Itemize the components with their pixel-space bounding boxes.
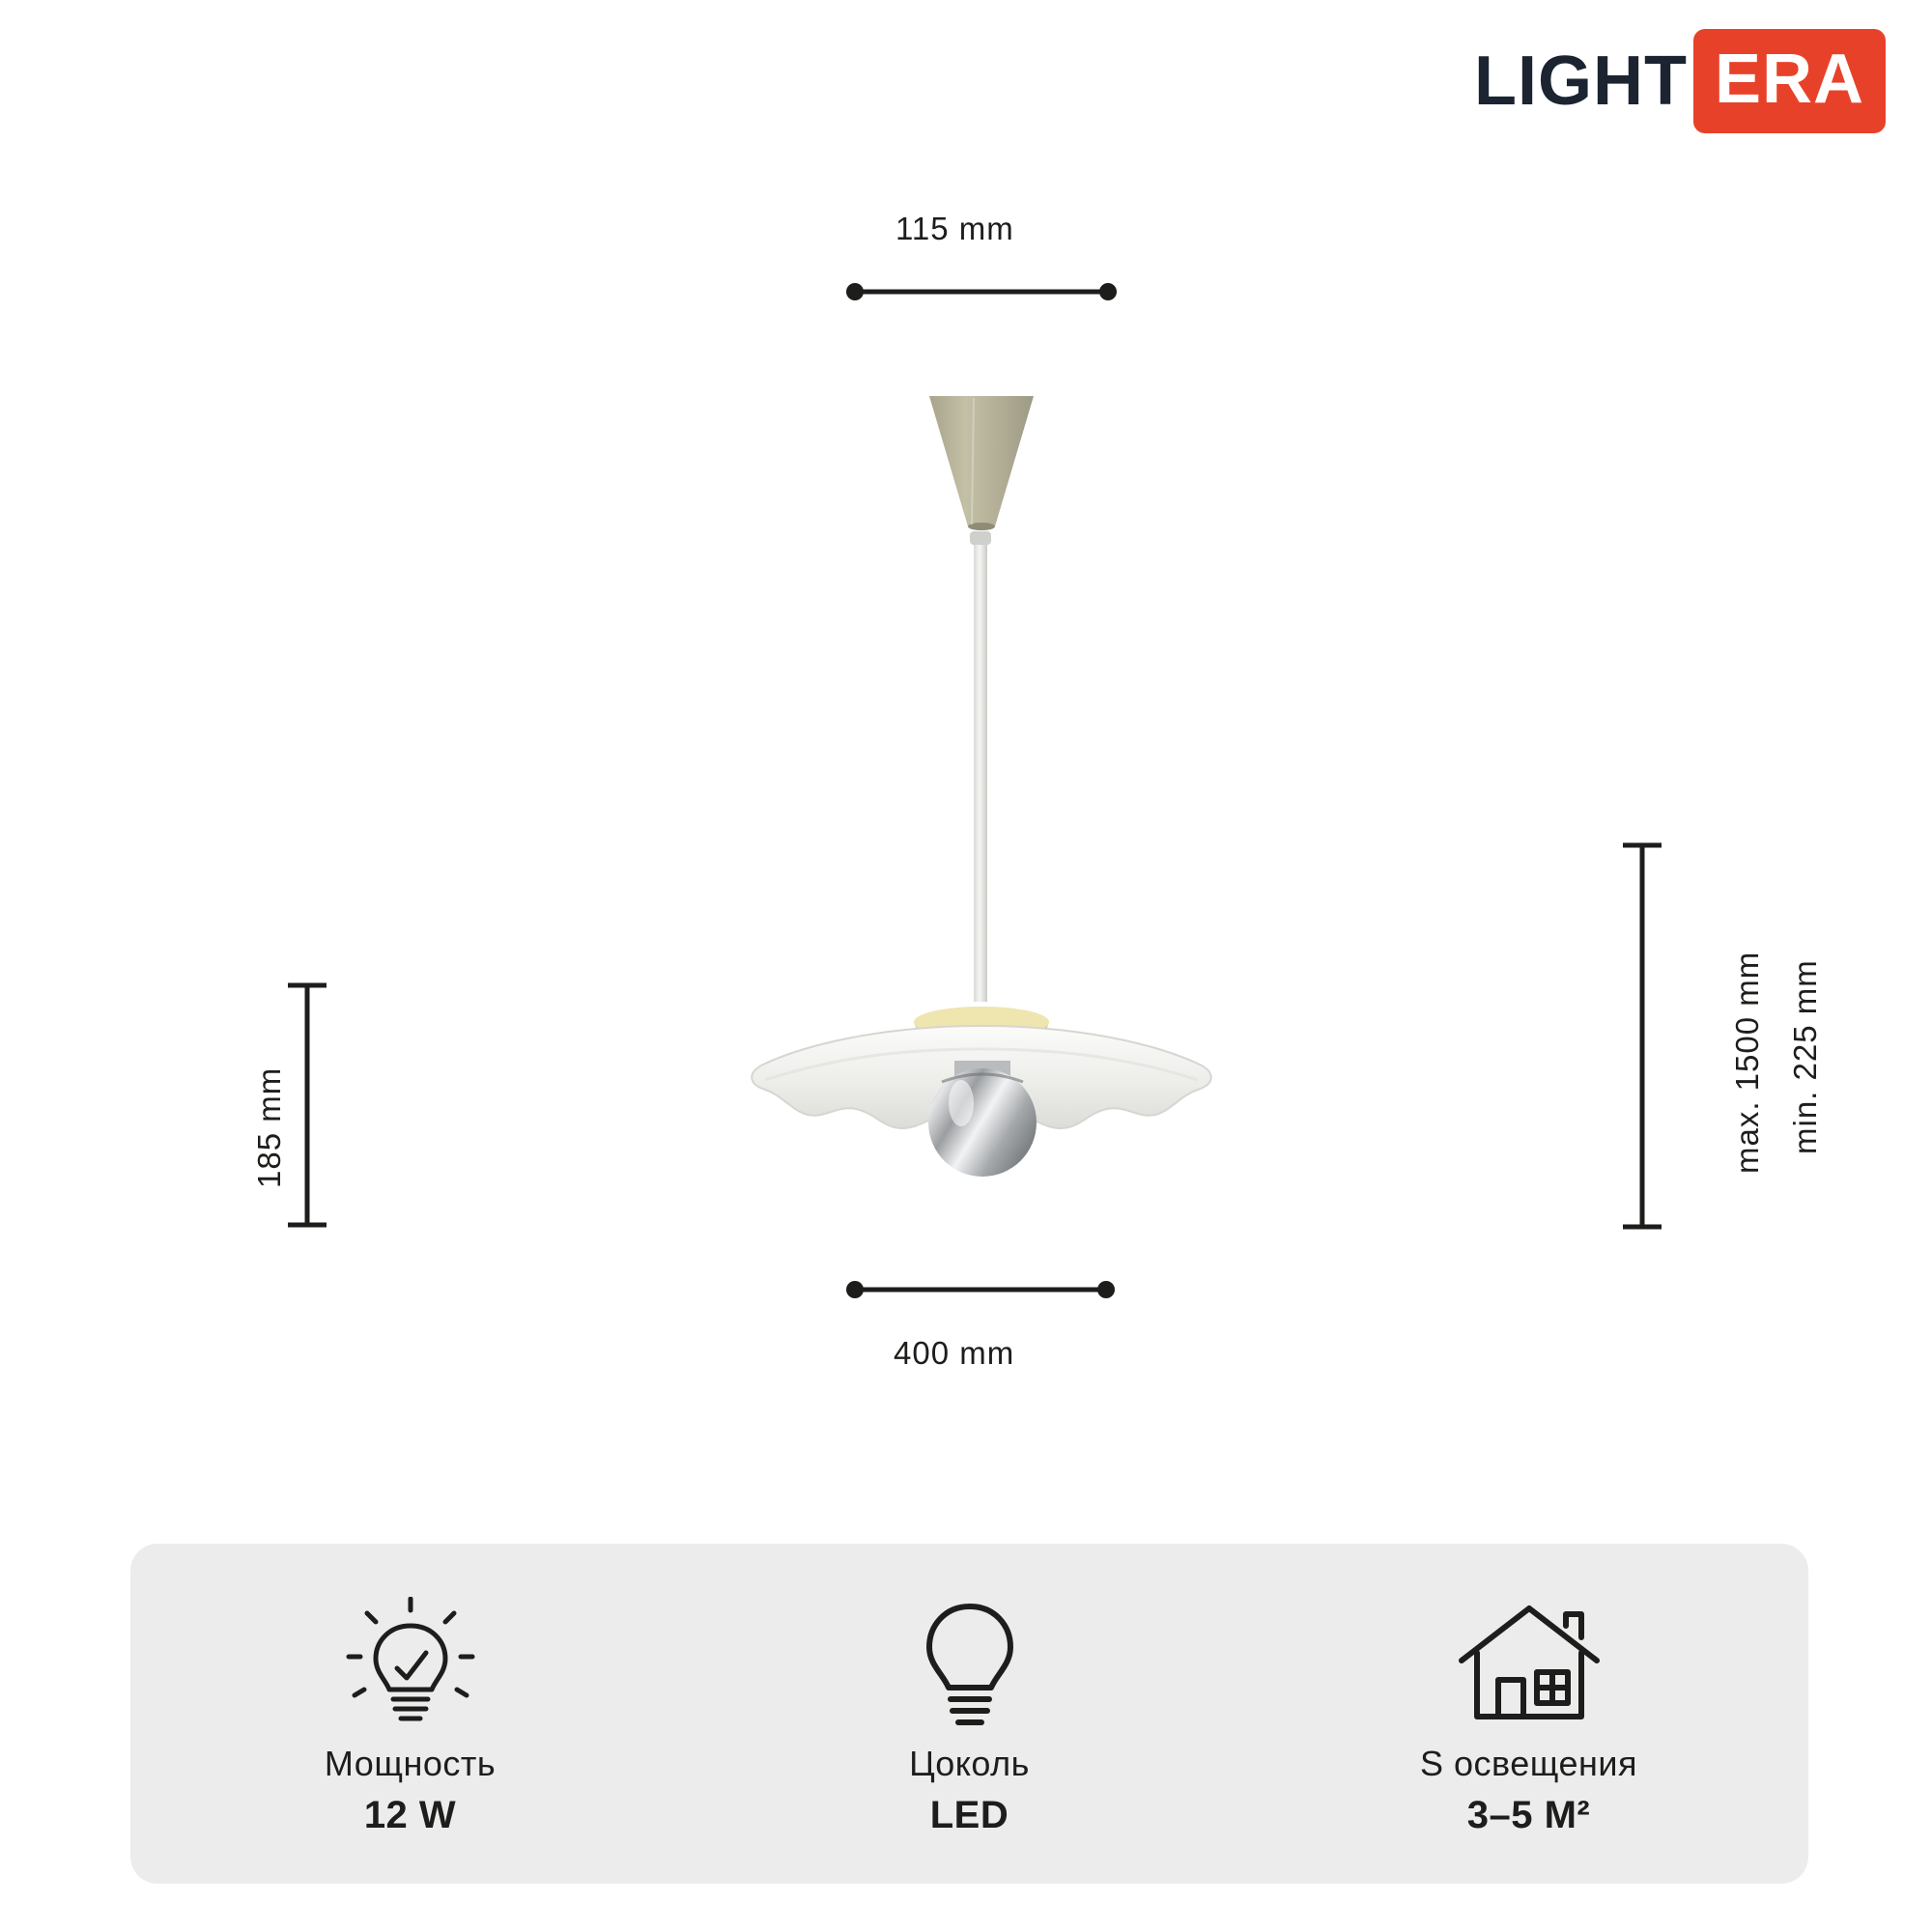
bulb-icon [912, 1597, 1028, 1732]
suspension-rod [970, 531, 991, 1002]
dimension-label-top: 115 mm [895, 211, 1014, 247]
spec-item-power: Мощность 12 W [130, 1544, 690, 1884]
dimension-line-left [288, 985, 327, 1225]
dimension-label-right-min: min. 225 mm [1787, 959, 1824, 1154]
spec-title-power: Мощность [325, 1744, 496, 1784]
specifications-panel: Мощность 12 W Цоколь LED [130, 1544, 1808, 1884]
bulb-check-icon [339, 1597, 482, 1732]
spec-item-area: S освещения 3–5 M² [1249, 1544, 1808, 1884]
dimension-line-bottom [846, 1281, 1115, 1298]
dimension-line-top [846, 283, 1117, 300]
dimension-line-right [1623, 845, 1662, 1227]
dimension-label-right-max: max. 1500 mm [1729, 952, 1766, 1174]
spec-title-area: S освещения [1420, 1744, 1637, 1784]
spec-item-socket: Цоколь LED [690, 1544, 1249, 1884]
spec-title-socket: Цоколь [909, 1744, 1030, 1784]
spec-value-area: 3–5 M² [1467, 1794, 1591, 1837]
spec-value-socket: LED [930, 1794, 1009, 1837]
dimension-label-bottom: 400 mm [894, 1335, 1014, 1372]
dimension-label-left: 185 mm [251, 1067, 288, 1188]
house-icon [1452, 1597, 1606, 1732]
spec-value-power: 12 W [364, 1794, 456, 1837]
ceiling-cap [929, 396, 1034, 530]
